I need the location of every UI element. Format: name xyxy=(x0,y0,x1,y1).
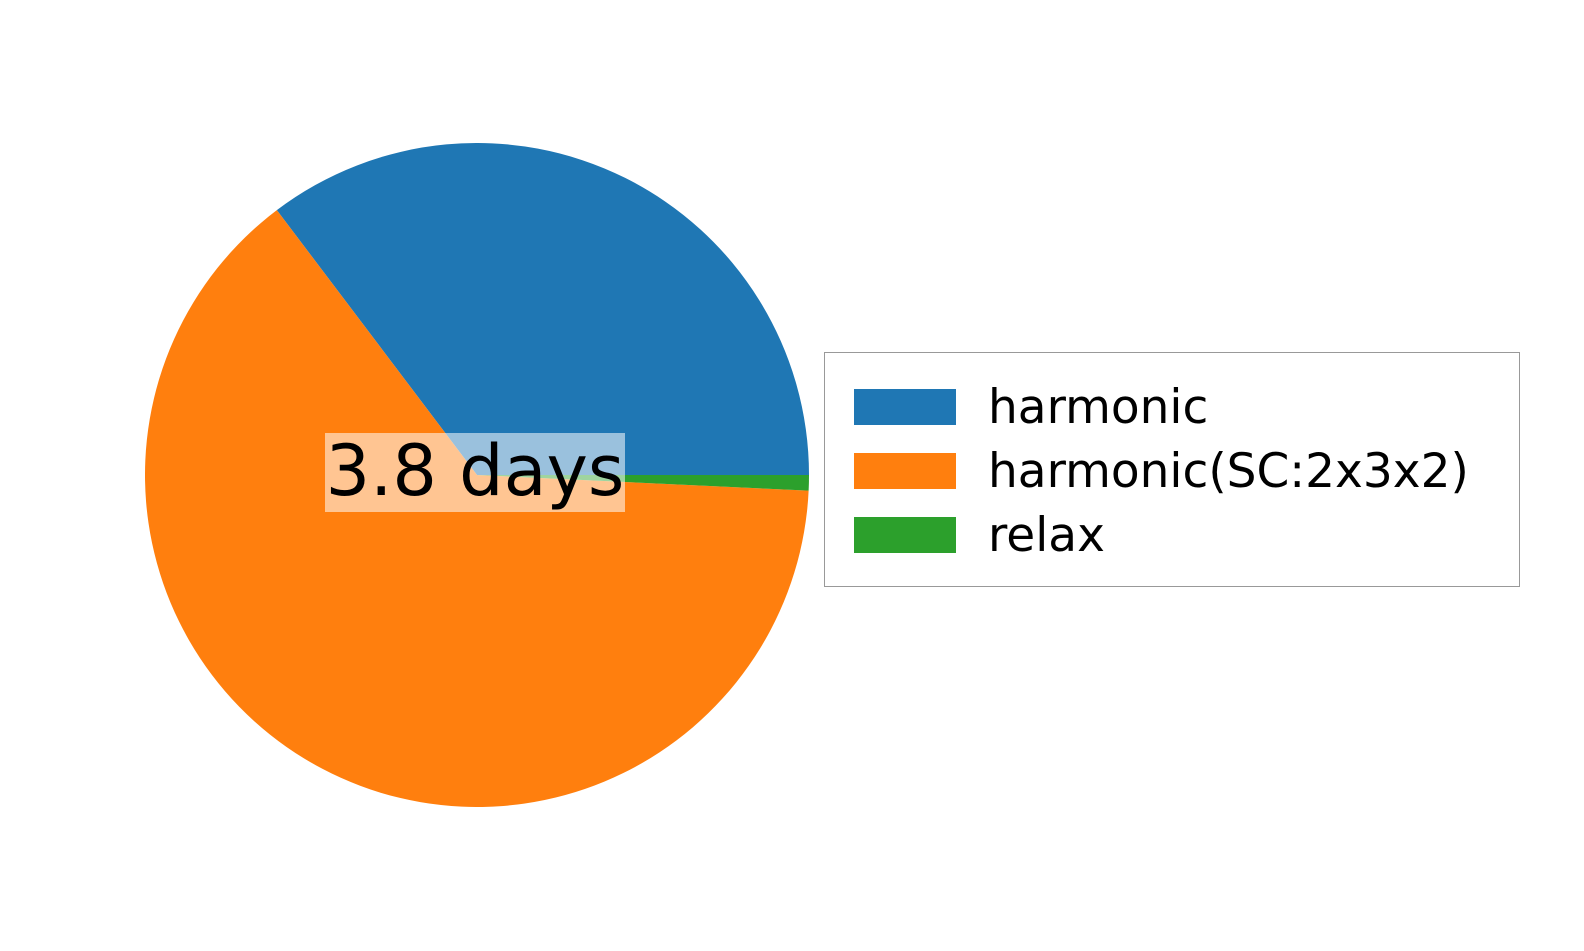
legend-item-harmonic[interactable]: harmonic xyxy=(825,375,1519,439)
legend-label-relax: relax xyxy=(988,512,1105,559)
legend-item-relax[interactable]: relax xyxy=(825,503,1519,567)
legend-label-harmonic: harmonic xyxy=(988,384,1208,431)
legend-label-harmonic-sc: harmonic(SC:2x3x2) xyxy=(988,448,1469,495)
legend-box: harmonic harmonic(SC:2x3x2) relax xyxy=(824,352,1520,587)
legend-item-harmonic-sc[interactable]: harmonic(SC:2x3x2) xyxy=(825,439,1519,503)
legend-swatch-harmonic xyxy=(854,389,956,425)
legend-swatch-relax xyxy=(854,517,956,553)
pie-center-label: 3.8 days xyxy=(325,433,625,512)
pie-center-label-text: 3.8 days xyxy=(326,436,625,510)
figure-canvas: 3.8 days harmonic harmonic(SC:2x3x2) rel… xyxy=(0,0,1584,951)
legend-swatch-harmonic-sc xyxy=(854,453,956,489)
